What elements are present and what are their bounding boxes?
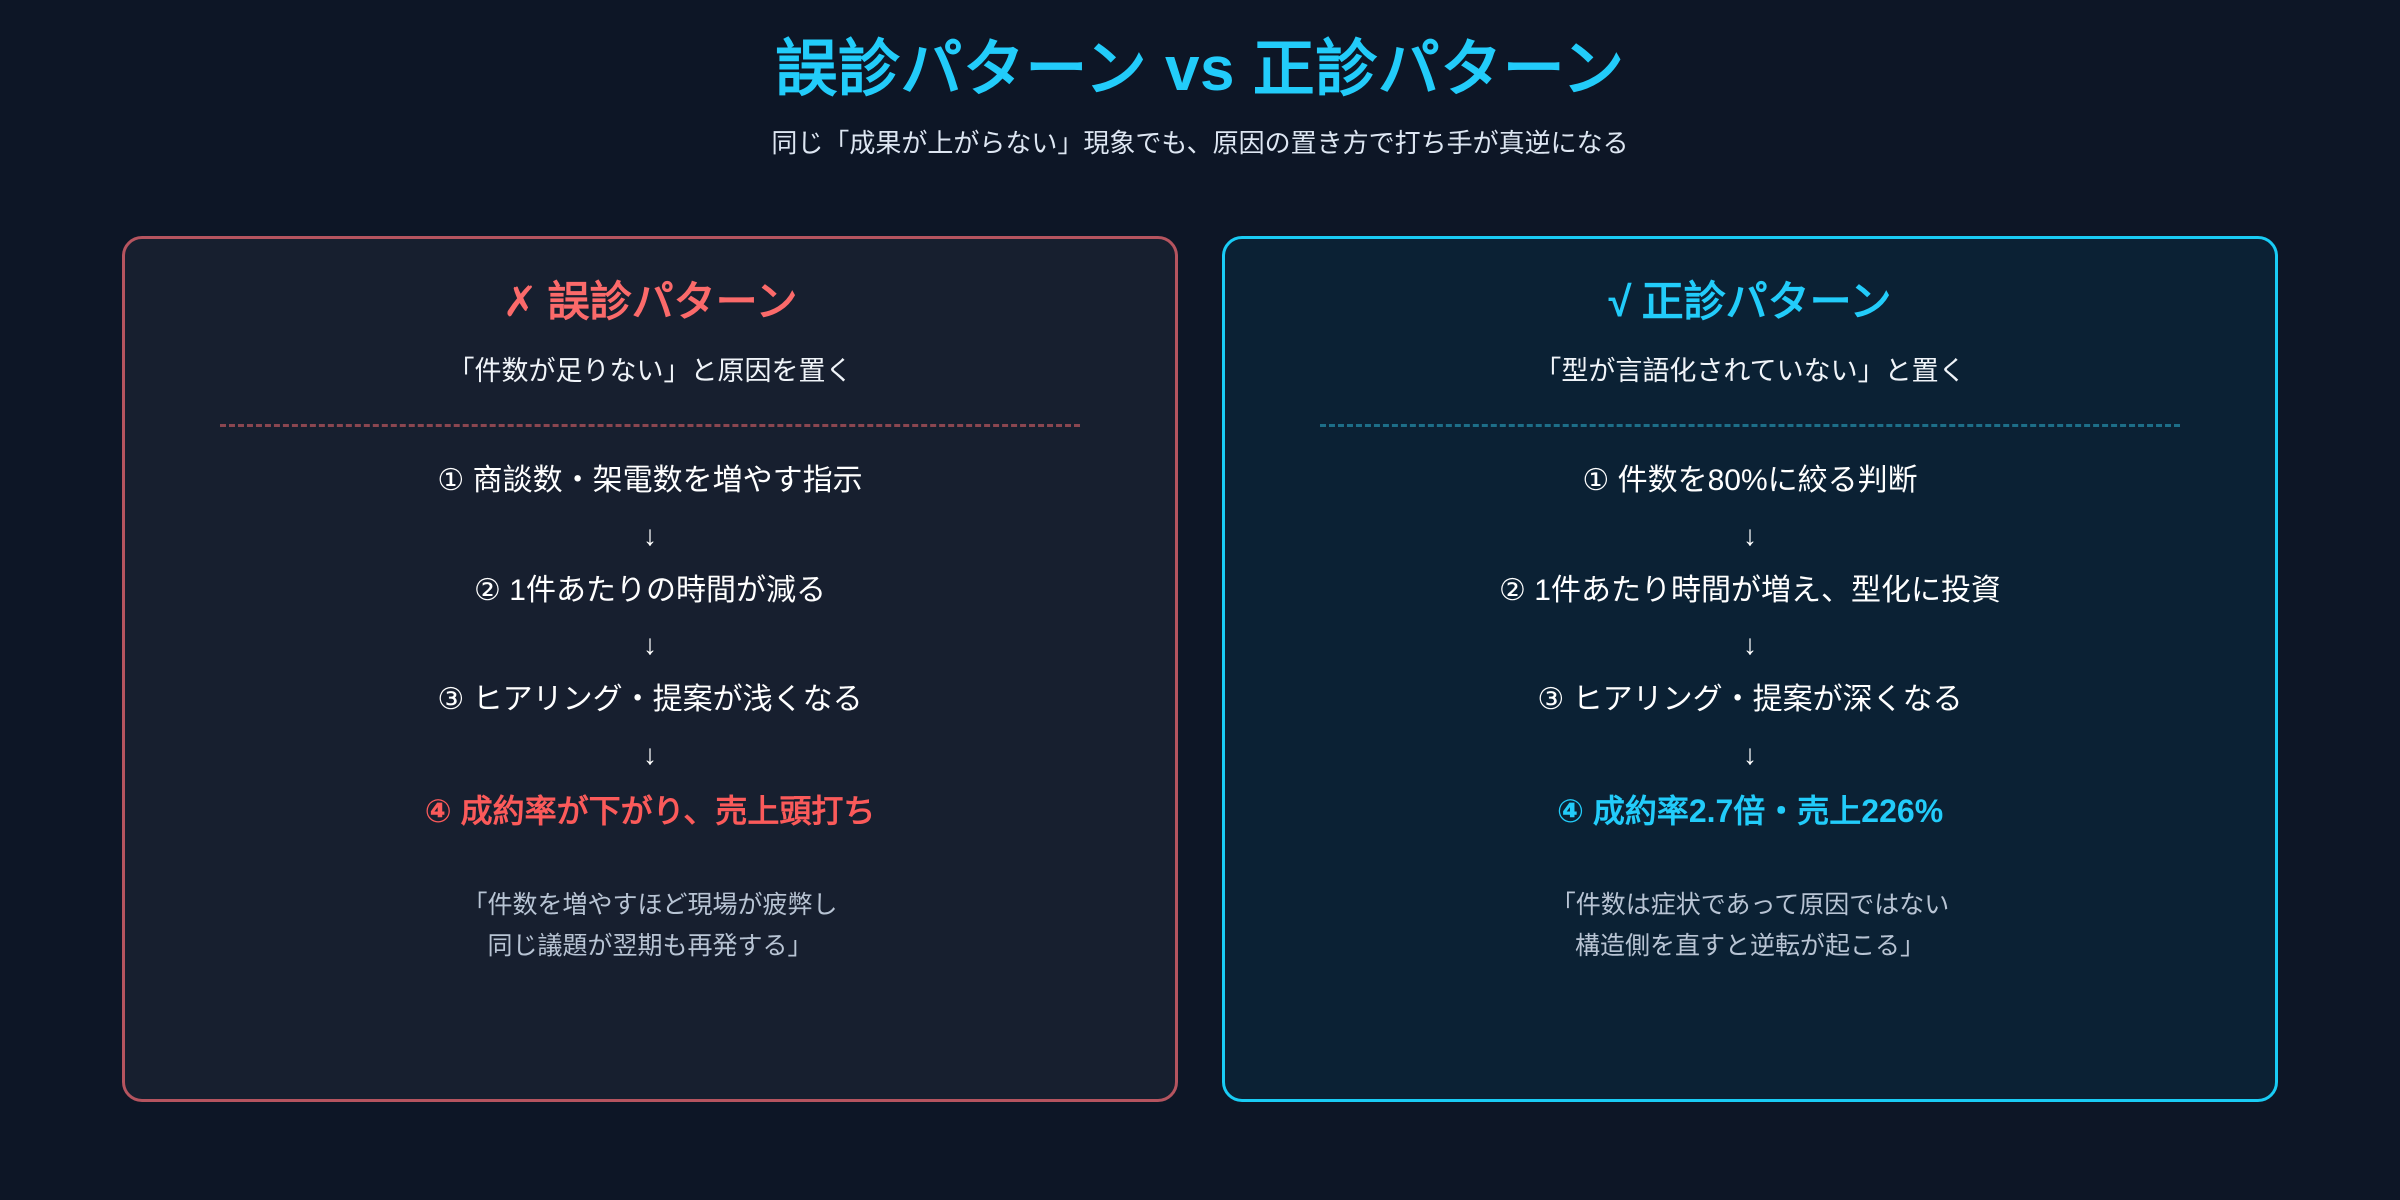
check-mark-icon: √	[1609, 277, 1632, 327]
flow-step: ③ ヒアリング・提案が浅くなる	[437, 680, 862, 721]
slide-header: 誤診パターン vs 正診パターン 同じ「成果が上がらない」現象でも、原因の置き方…	[0, 0, 2400, 162]
card-misdiagnosis-divider	[220, 424, 1080, 427]
card-correct-diagnosis-subtitle: 「型が言語化されていない」と置く	[1534, 353, 1965, 391]
page-title: 誤診パターン vs 正診パターン	[0, 34, 2400, 105]
card-correct-diagnosis: √正診パターン 「型が言語化されていない」と置く ① 件数を80%に絞る判断 ↓…	[1222, 236, 2278, 1102]
flow-step-outcome: ④ 成約率が下がり、売上頭打ち	[425, 790, 876, 833]
down-arrow-icon: ↓	[643, 631, 657, 659]
down-arrow-icon: ↓	[643, 741, 657, 769]
down-arrow-icon: ↓	[1743, 741, 1757, 769]
flow-step: ③ ヒアリング・提案が深くなる	[1537, 680, 1962, 721]
card-misdiagnosis-title: ✗誤診パターン	[502, 277, 797, 327]
card-misdiagnosis-subtitle: 「件数が足りない」と原因を置く	[448, 353, 853, 391]
cross-mark-icon: ✗	[502, 277, 537, 327]
page-subtitle: 同じ「成果が上がらない」現象でも、原因の置き方で打ち手が真逆になる	[0, 125, 2400, 161]
flow-step: ① 商談数・架電数を増やす指示	[437, 461, 862, 502]
flow-step: ① 件数を80%に絞る判断	[1582, 461, 1917, 502]
card-correct-diagnosis-flow: ① 件数を80%に絞る判断 ↓ ② 1件あたり時間が増え、型化に投資 ↓ ③ ヒ…	[1499, 461, 2001, 833]
card-correct-diagnosis-title-text: 正診パターン	[1642, 278, 1892, 325]
card-correct-diagnosis-quote: 「件数は症状であって原因ではない 構造側を直すと逆転が起こる」	[1551, 885, 1950, 968]
card-misdiagnosis-title-text: 誤診パターン	[548, 278, 798, 325]
card-correct-diagnosis-title: √正診パターン	[1609, 277, 1892, 327]
down-arrow-icon: ↓	[643, 522, 657, 550]
down-arrow-icon: ↓	[1743, 522, 1757, 550]
card-misdiagnosis: ✗誤診パターン 「件数が足りない」と原因を置く ① 商談数・架電数を増やす指示 …	[122, 236, 1178, 1102]
flow-step: ② 1件あたり時間が増え、型化に投資	[1499, 571, 2001, 612]
slide-root: 誤診パターン vs 正診パターン 同じ「成果が上がらない」現象でも、原因の置き方…	[0, 0, 2400, 1200]
down-arrow-icon: ↓	[1743, 631, 1757, 659]
flow-step-outcome: ④ 成約率2.7倍・売上226%	[1557, 790, 1943, 833]
card-misdiagnosis-flow: ① 商談数・架電数を増やす指示 ↓ ② 1件あたりの時間が減る ↓ ③ ヒアリン…	[425, 461, 876, 833]
card-correct-diagnosis-divider	[1320, 424, 2180, 427]
flow-step: ② 1件あたりの時間が減る	[474, 571, 826, 612]
comparison-cards: ✗誤診パターン 「件数が足りない」と原因を置く ① 商談数・架電数を増やす指示 …	[122, 236, 2278, 1102]
card-misdiagnosis-quote: 「件数を増やすほど現場が疲弊し 同じ議題が翌期も再発する」	[462, 885, 837, 968]
